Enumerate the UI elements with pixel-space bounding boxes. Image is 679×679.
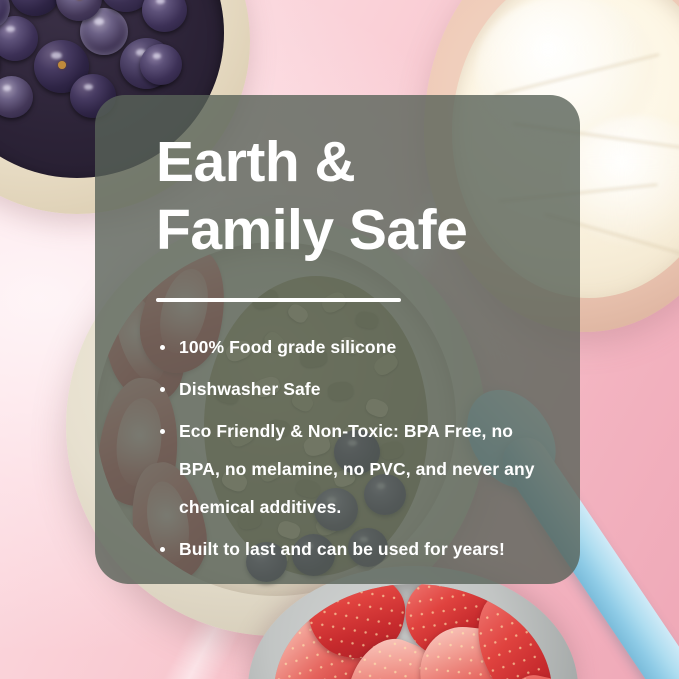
list-item: Built to last and can be used for years! — [157, 530, 550, 568]
blueberry — [140, 44, 182, 85]
list-item: Eco Friendly & Non-Toxic: BPA Free, no B… — [157, 412, 550, 526]
page-title: Earth & Family Safe — [156, 128, 562, 264]
blueberry — [10, 0, 60, 16]
blueberry — [0, 16, 38, 61]
feature-list: 100% Food grade silicone Dishwasher Safe… — [157, 328, 550, 572]
list-item: Dishwasher Safe — [157, 370, 550, 408]
strawberry-bowl-interior — [274, 584, 552, 679]
blueberry — [142, 0, 187, 32]
product-lifestyle-image: Earth & Family Safe 100% Food grade sili… — [0, 0, 679, 679]
feature-overlay-card: Earth & Family Safe 100% Food grade sili… — [95, 95, 580, 584]
blueberry — [0, 76, 33, 118]
list-item: 100% Food grade silicone — [157, 328, 550, 366]
title-divider — [156, 298, 401, 302]
